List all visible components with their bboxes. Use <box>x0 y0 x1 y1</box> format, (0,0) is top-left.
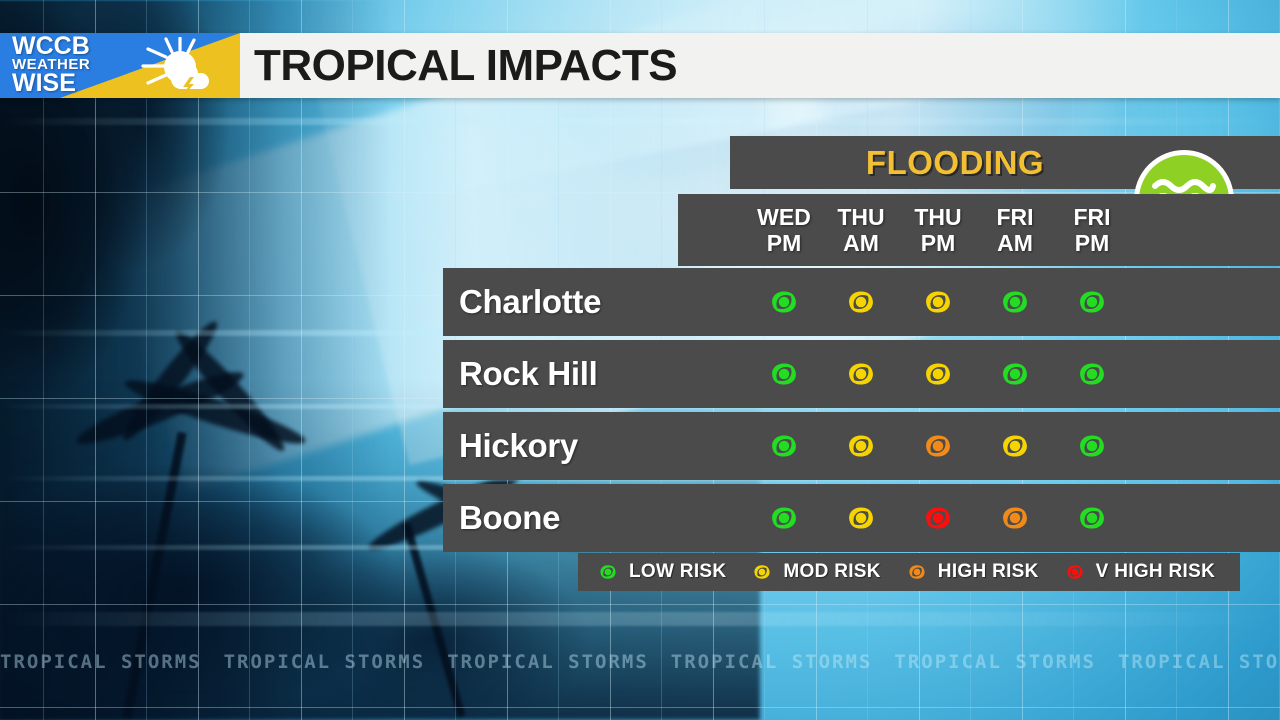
day-period: AM <box>997 230 1033 256</box>
hurricane-icon-high <box>903 558 931 586</box>
table-row: Rock Hill <box>443 340 1280 408</box>
legend-item-vhigh: V HIGH RISK <box>1061 558 1215 586</box>
hurricane-icon-mod <box>748 558 776 586</box>
risk-cell <box>971 412 1059 480</box>
hurricane-icon-mod <box>839 424 883 468</box>
hurricane-icon-low <box>1070 424 1114 468</box>
legend-label: MOD RISK <box>783 561 880 583</box>
legend-label: LOW RISK <box>629 561 726 583</box>
hurricane-icon-low <box>1070 280 1114 324</box>
day-header-4: FRIAM <box>971 194 1059 266</box>
day-header-2: THUAM <box>817 194 905 266</box>
day-header-1: WEDPM <box>740 194 828 266</box>
day-period: AM <box>843 230 879 256</box>
risk-legend: LOW RISKMOD RISKHIGH RISKV HIGH RISK <box>578 553 1240 591</box>
hurricane-icon-mod <box>839 352 883 396</box>
day-name: THU <box>914 204 961 230</box>
risk-cell <box>740 484 828 552</box>
day-name: FRI <box>996 204 1033 230</box>
risk-cell <box>1048 340 1136 408</box>
hurricane-icon-low <box>1070 352 1114 396</box>
risk-cell <box>894 484 982 552</box>
hurricane-icon-low <box>762 280 806 324</box>
table-row: Boone <box>443 484 1280 552</box>
legend-item-low: LOW RISK <box>594 558 726 586</box>
city-label: Rock Hill <box>459 340 598 408</box>
hurricane-icon-low <box>993 280 1037 324</box>
city-label: Charlotte <box>459 268 601 336</box>
city-label: Boone <box>459 484 560 552</box>
table-row: Charlotte <box>443 268 1280 336</box>
risk-cell <box>817 340 905 408</box>
risk-cell <box>971 484 1059 552</box>
risk-cell <box>740 268 828 336</box>
hurricane-icon-mod <box>916 352 960 396</box>
hurricane-icon-high <box>916 424 960 468</box>
hurricane-icon-vhigh <box>1061 558 1089 586</box>
impacts-table: FLOODING WEDPMTHUAMTHUPMFRIAMFRIPM Charl… <box>0 0 1280 720</box>
hurricane-icon-low <box>594 558 622 586</box>
hurricane-icon-low <box>762 424 806 468</box>
hurricane-icon-mod <box>839 280 883 324</box>
risk-cell <box>971 268 1059 336</box>
risk-cell <box>817 268 905 336</box>
table-row: Hickory <box>443 412 1280 480</box>
hurricane-icon-vhigh <box>916 496 960 540</box>
hurricane-icon-low <box>762 352 806 396</box>
day-period: PM <box>1075 230 1110 256</box>
legend-label: HIGH RISK <box>938 561 1039 583</box>
day-header-5: FRIPM <box>1048 194 1136 266</box>
day-period: PM <box>767 230 802 256</box>
hurricane-icon-low <box>993 352 1037 396</box>
legend-label: V HIGH RISK <box>1096 561 1215 583</box>
hurricane-icon-mod <box>993 424 1037 468</box>
hurricane-icon-mod <box>839 496 883 540</box>
day-name: FRI <box>1073 204 1110 230</box>
risk-cell <box>817 484 905 552</box>
risk-cell <box>740 412 828 480</box>
day-header-3: THUPM <box>894 194 982 266</box>
hurricane-icon-mod <box>916 280 960 324</box>
hurricane-icon-low <box>762 496 806 540</box>
day-period: PM <box>921 230 956 256</box>
risk-cell <box>740 340 828 408</box>
day-name: THU <box>837 204 884 230</box>
category-title: FLOODING <box>730 136 1180 189</box>
day-name: WED <box>757 204 811 230</box>
risk-cell <box>1048 412 1136 480</box>
risk-cell <box>894 412 982 480</box>
risk-cell <box>1048 484 1136 552</box>
risk-cell <box>971 340 1059 408</box>
hurricane-icon-low <box>1070 496 1114 540</box>
risk-cell <box>894 340 982 408</box>
legend-item-mod: MOD RISK <box>748 558 880 586</box>
legend-item-high: HIGH RISK <box>903 558 1039 586</box>
risk-cell <box>817 412 905 480</box>
risk-cell <box>894 268 982 336</box>
risk-cell <box>1048 268 1136 336</box>
city-label: Hickory <box>459 412 578 480</box>
hurricane-icon-high <box>993 496 1037 540</box>
